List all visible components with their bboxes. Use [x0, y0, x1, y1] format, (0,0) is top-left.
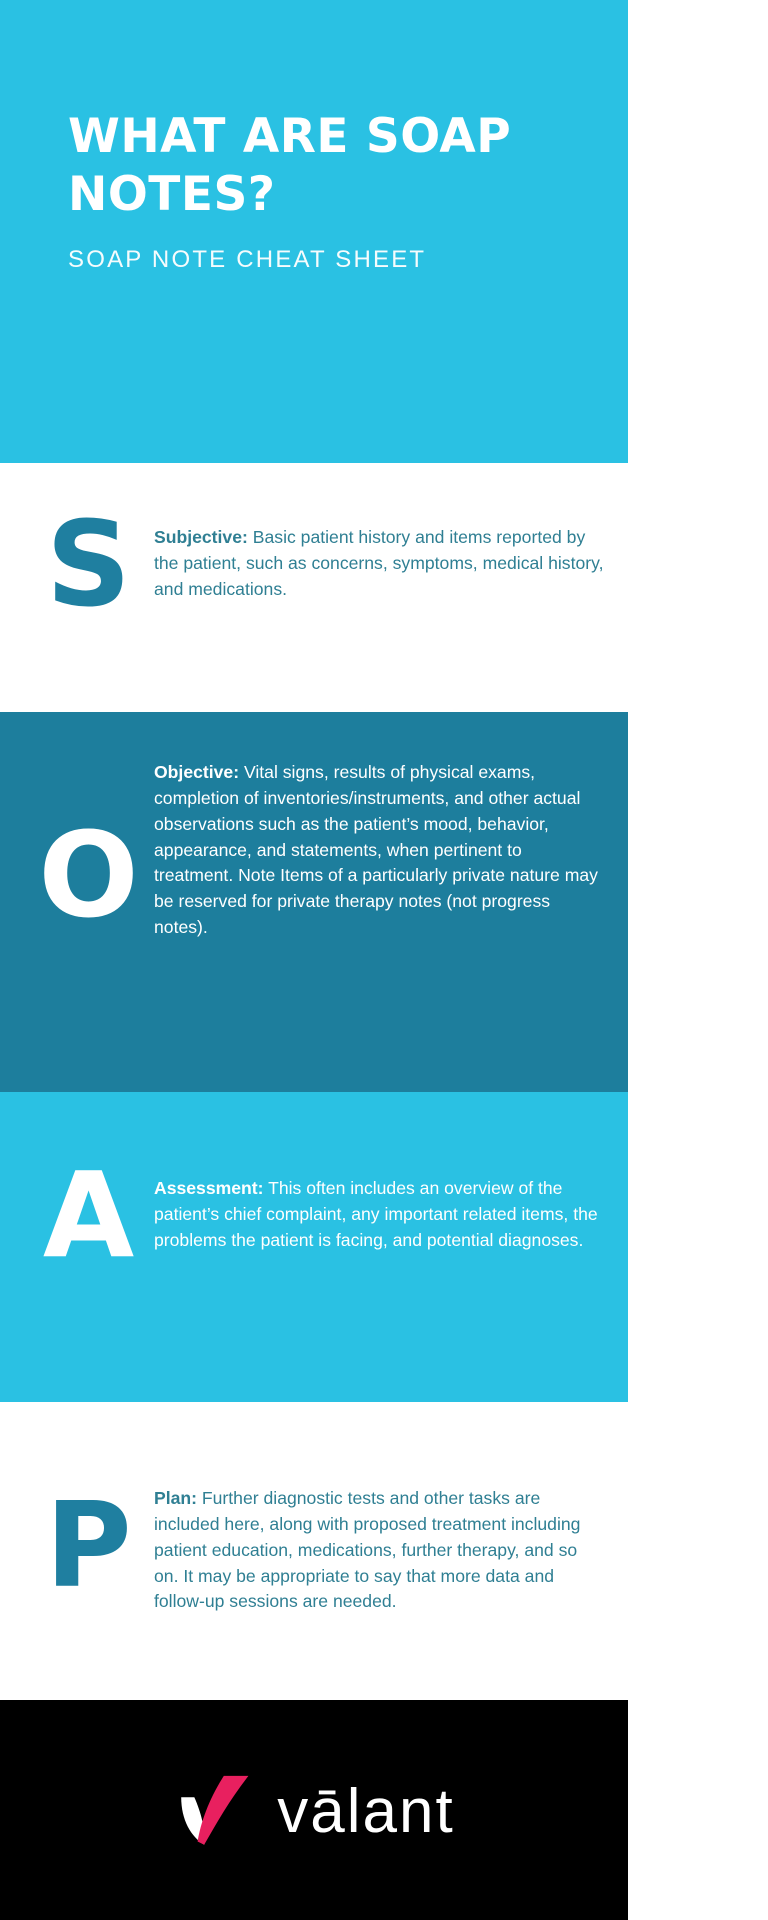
section-description-objective: Vital signs, results of physical exams, …	[154, 762, 598, 937]
valant-wordmark: vālant	[277, 1781, 454, 1843]
section-description-plan: Further diagnostic tests and other tasks…	[154, 1488, 580, 1611]
section-term-plan: Plan:	[154, 1488, 197, 1508]
section-subjective: S Subjective: Basic patient history and …	[0, 463, 628, 712]
section-paragraph-plan: Plan: Further diagnostic tests and other…	[154, 1486, 604, 1615]
section-body-plan: Plan: Further diagnostic tests and other…	[154, 1424, 628, 1615]
header-text-group: WHAT ARE SOAP NOTES? SOAP NOTE CHEAT SHE…	[68, 108, 588, 274]
section-term-subjective: Subjective:	[154, 527, 248, 547]
valant-logo[interactable]: vālant	[173, 1771, 454, 1853]
section-term-objective: Objective:	[154, 762, 239, 782]
letter-badge-a: A	[22, 1120, 154, 1274]
valant-checkmark-icon	[173, 1771, 255, 1853]
header-banner: WHAT ARE SOAP NOTES? SOAP NOTE CHEAT SHE…	[0, 0, 628, 463]
section-assessment: A Assessment: This often includes an ove…	[0, 1092, 628, 1402]
section-objective: O Objective: Vital signs, results of phy…	[0, 712, 628, 1092]
footer-bar: vālant	[0, 1700, 628, 1920]
valant-wordmark-text: vālant	[277, 1777, 454, 1846]
section-body-assessment: Assessment: This often includes an overv…	[154, 1120, 628, 1254]
letter-badge-o: O	[22, 744, 154, 934]
section-body-subjective: Subjective: Basic patient history and it…	[154, 497, 628, 603]
infographic-canvas: WHAT ARE SOAP NOTES? SOAP NOTE CHEAT SHE…	[0, 0, 628, 1920]
letter-badge-s: S	[22, 497, 154, 623]
section-paragraph-objective: Objective: Vital signs, results of physi…	[154, 760, 604, 941]
section-plan: P Plan: Further diagnostic tests and oth…	[0, 1402, 628, 1700]
infographic-page: WHAT ARE SOAP NOTES? SOAP NOTE CHEAT SHE…	[0, 0, 768, 1920]
section-paragraph-assessment: Assessment: This often includes an overv…	[154, 1176, 604, 1254]
letter-badge-p: P	[22, 1424, 154, 1604]
page-subtitle: SOAP NOTE CHEAT SHEET	[68, 246, 588, 274]
section-body-objective: Objective: Vital signs, results of physi…	[154, 744, 628, 941]
page-title: WHAT ARE SOAP NOTES?	[68, 108, 588, 224]
section-term-assessment: Assessment:	[154, 1178, 264, 1198]
section-paragraph-subjective: Subjective: Basic patient history and it…	[154, 525, 604, 603]
